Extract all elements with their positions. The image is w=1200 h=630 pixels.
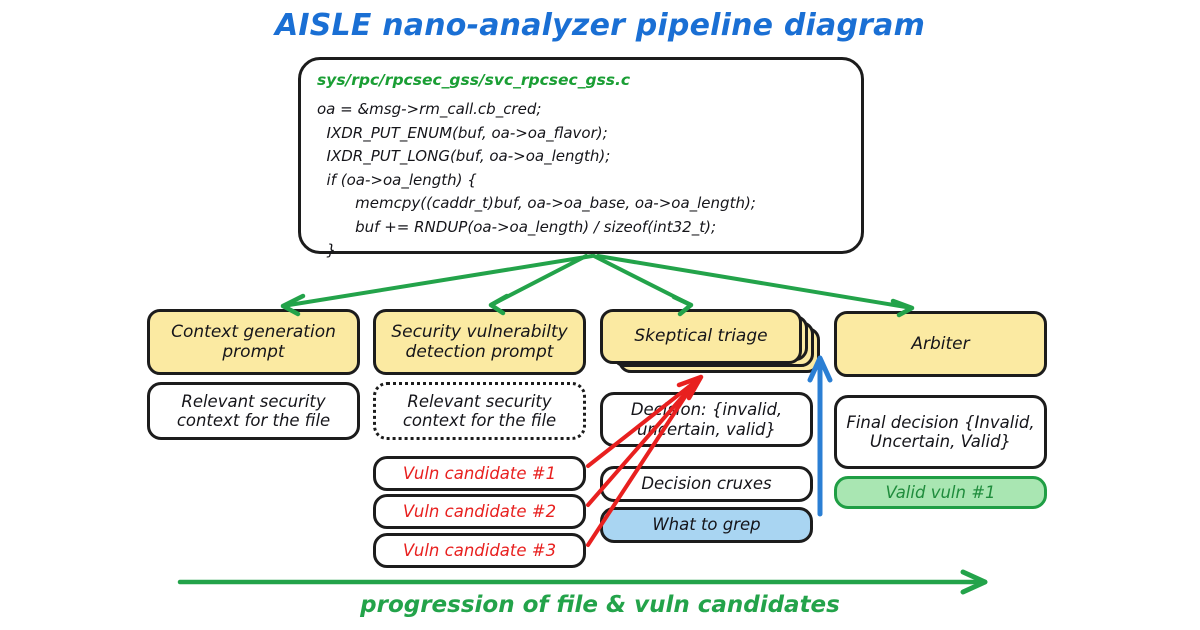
box-relevant-security-context[interactable]: Relevant security context for the file: [147, 382, 360, 440]
column-header-security-vulnerability-detection[interactable]: Security vulnerabilty detection prompt: [373, 309, 586, 375]
code-line: }: [317, 239, 845, 263]
box-vuln-candidate-1[interactable]: Vuln candidate #1: [373, 456, 586, 491]
column-header-skeptical-triage[interactable]: Skeptical triage: [600, 309, 802, 364]
fanout-arrow-to-security-detection: [491, 256, 586, 305]
box-final-decision[interactable]: Final decision {Invalid, Uncertain, Vali…: [834, 395, 1047, 469]
box-vuln-candidate-3[interactable]: Vuln candidate #3: [373, 533, 586, 568]
code-line: memcpy((caddr_t)buf, oa->oa_base, oa->oa…: [317, 192, 845, 216]
column-header-arbiter[interactable]: Arbiter: [834, 311, 1047, 377]
fanout-arrow-to-skeptical-triage: [594, 256, 691, 305]
progression-arrow: [180, 572, 985, 592]
box-valid-vuln-1[interactable]: Valid vuln #1: [834, 476, 1047, 509]
fanout-arrow-to-context-generation: [283, 256, 592, 306]
fanout-arrow-to-arbiter: [598, 256, 912, 308]
column-header-context-generation[interactable]: Context generation prompt: [147, 309, 360, 375]
code-line: oa = &msg->rm_call.cb_cred;: [317, 98, 845, 122]
diagram-canvas: AISLE nano-analyzer pipeline diagram sys…: [0, 0, 1200, 630]
box-what-to-grep[interactable]: What to grep: [600, 507, 813, 543]
progression-label: progression of file & vuln candidates: [0, 592, 1200, 618]
code-line: buf += RNDUP(oa->oa_length) / sizeof(int…: [317, 216, 845, 240]
box-vuln-candidate-2[interactable]: Vuln candidate #2: [373, 494, 586, 529]
box-decision-cruxes[interactable]: Decision cruxes: [600, 466, 813, 502]
code-line: IXDR_PUT_ENUM(buf, oa->oa_flavor);: [317, 122, 845, 146]
code-line: IXDR_PUT_LONG(buf, oa->oa_length);: [317, 145, 845, 169]
code-line: if (oa->oa_length) {: [317, 169, 845, 193]
box-decision[interactable]: Decision: {invalid, uncertain, valid}: [600, 392, 813, 447]
code-filename: sys/rpc/rpcsec_gss/svc_rpcsec_gss.c: [317, 71, 845, 89]
arrow-what-to-grep-to-triage: [810, 358, 830, 514]
code-block: sys/rpc/rpcsec_gss/svc_rpcsec_gss.c oa =…: [298, 57, 864, 254]
box-relevant-security-context[interactable]: Relevant security context for the file: [373, 382, 586, 440]
page-title: AISLE nano-analyzer pipeline diagram: [0, 8, 1200, 43]
